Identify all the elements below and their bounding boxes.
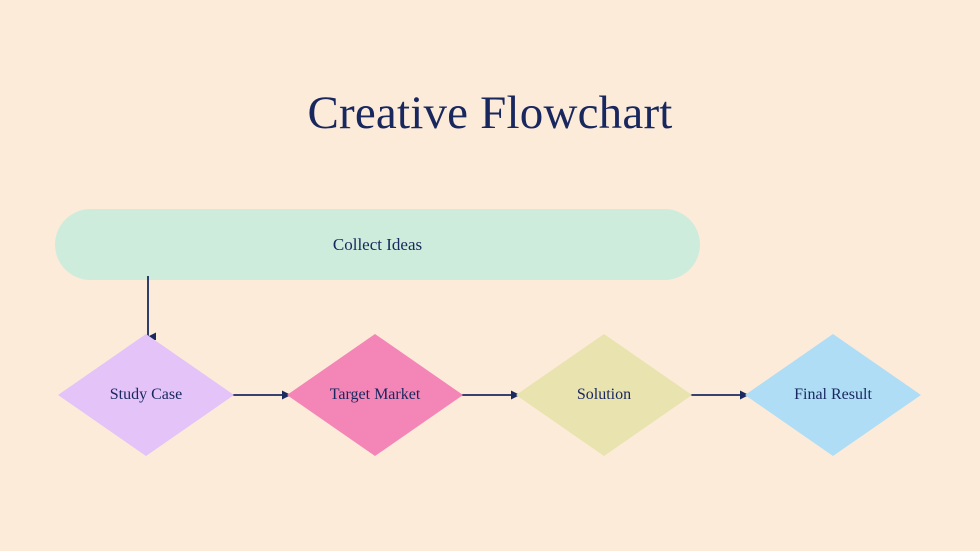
flowchart-slide: Creative Flowchart Collect Ideas xyxy=(0,0,980,551)
flow-node-final-result[interactable]: Final Result xyxy=(745,334,921,456)
diamond-shape-icon xyxy=(516,334,692,456)
flow-node-study-case[interactable]: Study Case xyxy=(58,334,234,456)
flow-node-solution[interactable]: Solution xyxy=(516,334,692,456)
diamond-shape-icon xyxy=(745,334,921,456)
page-title: Creative Flowchart xyxy=(0,83,980,143)
flow-node-collect-ideas[interactable]: Collect Ideas xyxy=(55,209,700,280)
diamond-shape-icon xyxy=(287,334,463,456)
diamond-shape-icon xyxy=(58,334,234,456)
connector-solution-to-final-result xyxy=(687,378,751,412)
connector-collect-ideas-to-study-case xyxy=(128,276,168,340)
flow-node-label: Collect Ideas xyxy=(55,209,700,280)
connector-study-case-to-target-market xyxy=(229,378,293,412)
flow-node-target-market[interactable]: Target Market xyxy=(287,334,463,456)
connector-target-market-to-solution xyxy=(458,378,522,412)
